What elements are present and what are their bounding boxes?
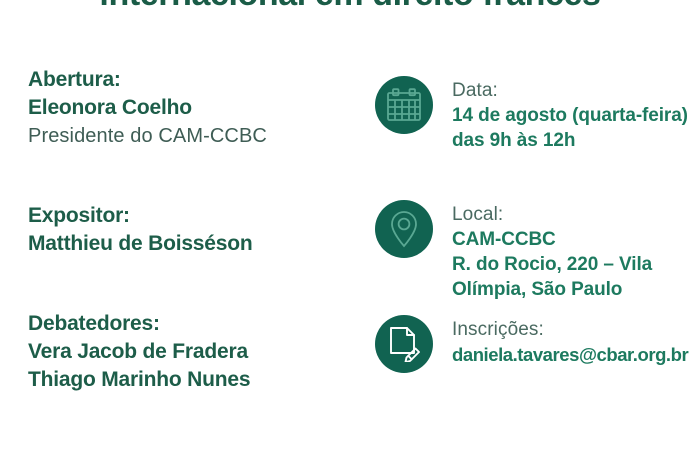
map-pin-icon xyxy=(375,200,433,258)
page-title-crop: internacional em direito francês xyxy=(0,0,700,16)
speaker-block-abertura: Abertura: Eleonora Coelho Presidente do … xyxy=(28,66,267,150)
detail-row-inscricoes: Inscrições: daniela.tavares@cbar.org.br xyxy=(375,315,688,373)
document-edit-icon xyxy=(375,315,433,373)
detail-label-data: Data: xyxy=(452,78,700,103)
detail-text-inscricoes: Inscrições: daniela.tavares@cbar.org.br xyxy=(452,315,688,367)
detail-label-local: Local: xyxy=(452,202,700,227)
detail-row-data: Data: 14 de agosto (quarta-feira) das 9h… xyxy=(375,76,700,153)
event-flyer: internacional em direito francês Abertur… xyxy=(0,0,700,456)
speaker-block-expositor: Expositor: Matthieu de Boisséson xyxy=(28,202,253,258)
speaker-role-label: Abertura: xyxy=(28,66,267,94)
detail-value-data: 14 de agosto (quarta-feira) das 9h às 12… xyxy=(452,103,700,153)
page-title: internacional em direito francês xyxy=(0,0,700,14)
detail-value-email[interactable]: daniela.tavares@cbar.org.br xyxy=(452,342,688,367)
calendar-icon xyxy=(375,76,433,134)
detail-text-local: Local: CAM-CCBC R. do Rocio, 220 – Vila … xyxy=(452,200,700,302)
speaker-name-secondary: Thiago Marinho Nunes xyxy=(28,366,250,394)
detail-value-local-venue: CAM-CCBC xyxy=(452,227,700,252)
speaker-name: Eleonora Coelho xyxy=(28,94,267,122)
detail-text-data: Data: 14 de agosto (quarta-feira) das 9h… xyxy=(452,76,700,153)
detail-label-inscricoes: Inscrições: xyxy=(452,317,688,342)
speaker-name: Vera Jacob de Fradera xyxy=(28,338,250,366)
speaker-subtitle: Presidente do CAM-CCBC xyxy=(28,122,267,150)
detail-value-local-address: R. do Rocio, 220 – Vila Olímpia, São Pau… xyxy=(452,252,700,302)
speaker-block-debatedores: Debatedores: Vera Jacob de Fradera Thiag… xyxy=(28,310,250,394)
speaker-role-label: Debatedores: xyxy=(28,310,250,338)
speaker-name: Matthieu de Boisséson xyxy=(28,230,253,258)
detail-row-local: Local: CAM-CCBC R. do Rocio, 220 – Vila … xyxy=(375,200,700,302)
speaker-role-label: Expositor: xyxy=(28,202,253,230)
